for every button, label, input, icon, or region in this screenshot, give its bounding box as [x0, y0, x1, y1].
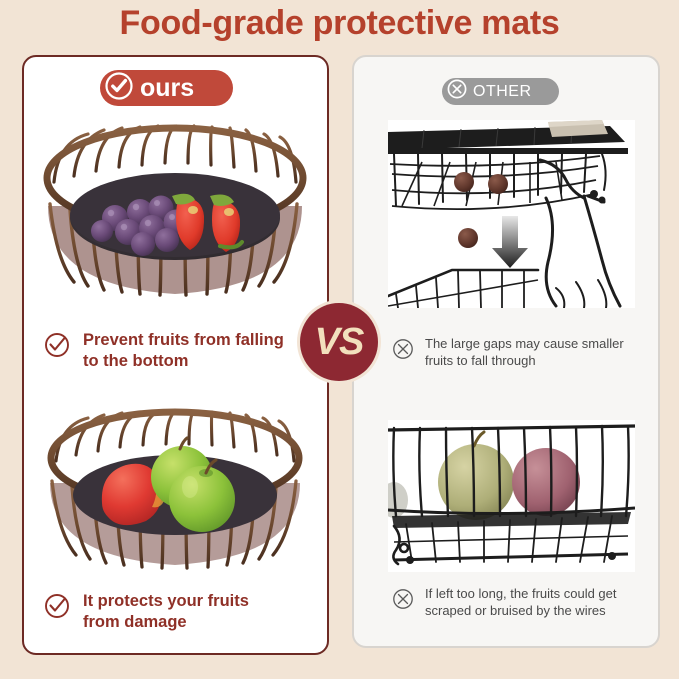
ours-caption-1: Prevent fruits from falling to the botto…	[44, 330, 314, 372]
circle-x-icon	[392, 338, 414, 365]
ours-badge-label: ours	[140, 76, 194, 101]
circle-check-icon	[105, 72, 133, 105]
ours-badge: ours	[100, 70, 233, 106]
other-badge: OTHER	[442, 78, 559, 105]
other-caption-2: If left too long, the fruits could get s…	[392, 586, 652, 620]
vs-label: VS	[315, 323, 364, 361]
vs-badge: VS	[300, 303, 378, 381]
circle-check-icon	[44, 593, 70, 624]
other-photo-bruised-fruit	[388, 420, 635, 572]
ours-caption-2-text: It protects your fruits from damage	[83, 591, 249, 633]
ours-caption-2: It protects your fruits from damage	[44, 591, 314, 633]
page-title: Food-grade protective mats	[0, 4, 679, 43]
other-caption-1-text: The large gaps may cause smaller fruits …	[425, 336, 624, 370]
other-photo-falling-fruit	[388, 120, 635, 308]
other-caption-2-text: If left too long, the fruits could get s…	[425, 586, 617, 620]
circle-x-icon	[447, 79, 467, 104]
ours-photo-apples	[30, 405, 320, 585]
ours-photo-grapes-strawberries	[30, 118, 320, 313]
circle-check-icon	[44, 332, 70, 363]
other-caption-1: The large gaps may cause smaller fruits …	[392, 336, 652, 370]
circle-x-icon	[392, 588, 414, 615]
other-badge-label: OTHER	[473, 84, 532, 100]
ours-caption-1-text: Prevent fruits from falling to the botto…	[83, 330, 284, 372]
